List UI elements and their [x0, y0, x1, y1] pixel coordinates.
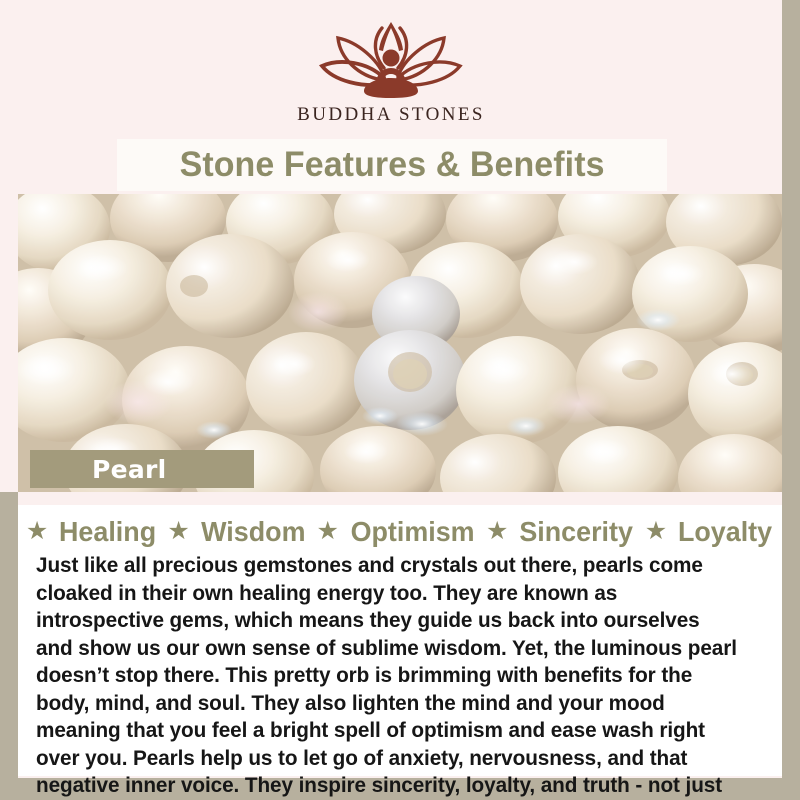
star-icon: ★ [645, 519, 667, 544]
keyword-wisdom: Wisdom [201, 516, 305, 548]
page-title: Stone Features & Benefits [179, 145, 604, 185]
title-banner: Stone Features & Benefits [117, 139, 667, 191]
keyword-healing: Healing [59, 516, 156, 548]
brand-name: BUDDHA STONES [297, 104, 485, 126]
star-icon: ★ [486, 519, 508, 544]
stone-photo [18, 194, 782, 492]
brand-header: BUDDHA STONES [0, 0, 782, 146]
star-icon: ★ [26, 519, 48, 544]
keyword-loyalty: Loyalty [678, 516, 772, 548]
stone-name: Pearl [92, 455, 167, 484]
poster-canvas: BUDDHA STONES Stone Features & Benefits [0, 0, 800, 800]
frame-edge-right [782, 0, 800, 800]
star-icon: ★ [167, 519, 189, 544]
keyword-optimism: Optimism [350, 516, 474, 548]
pearl-gemstones-image [18, 194, 782, 492]
frame-edge-left [0, 492, 18, 800]
lotus-meditation-icon [296, 18, 486, 100]
benefits-card: ★ Healing ★ Wisdom ★ Optimism ★ Sincerit… [18, 505, 782, 776]
keyword-list: ★ Healing ★ Wisdom ★ Optimism ★ Sincerit… [36, 513, 764, 551]
star-icon: ★ [316, 519, 338, 544]
keyword-sincerity: Sincerity [520, 516, 634, 548]
benefits-description: Just like all precious gemstones and cry… [36, 552, 739, 800]
stone-name-ribbon: Pearl [30, 450, 254, 488]
